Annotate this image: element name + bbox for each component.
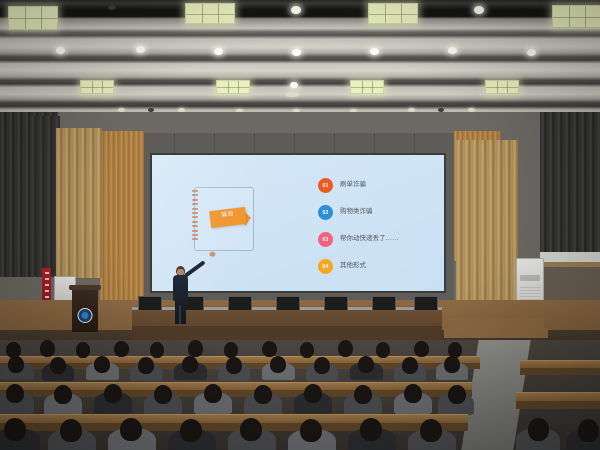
ceiling-panel-light: [185, 3, 235, 24]
ceiling-panel-light: [8, 6, 58, 30]
audience-head: [240, 418, 262, 441]
audience-head: [444, 356, 460, 373]
audience-head: [414, 341, 429, 357]
table-monitor: [228, 296, 252, 310]
audience-head: [138, 357, 154, 374]
projection-screen: 骗局 01 刷单诈骗 02 购物类诈骗 03 帮你动快递丢了…… 04: [150, 153, 446, 293]
audience-head: [448, 385, 466, 404]
stage-step: [448, 318, 544, 328]
audience-head: [404, 384, 422, 403]
ceiling: [0, 0, 600, 118]
ceiling-downlight: [291, 6, 301, 14]
desk-row-front: [520, 368, 600, 375]
ceiling-downlight: [370, 48, 379, 55]
audience-head: [358, 356, 374, 373]
ceiling-downlight: [527, 49, 536, 56]
audience-head: [60, 419, 82, 442]
audience-head: [182, 356, 198, 373]
table-monitor: [276, 296, 300, 310]
audience-head: [120, 418, 142, 441]
ceiling-panel-light: [368, 3, 418, 24]
audience-head: [204, 384, 222, 403]
audience-head: [338, 340, 353, 357]
ceiling-panel-light: [350, 80, 384, 94]
wood-wall-panel-left: [100, 131, 144, 303]
speaker-presenter: [172, 266, 190, 324]
stage-step: [444, 328, 548, 338]
audience-head: [254, 385, 272, 404]
audience-head: [270, 356, 286, 373]
ceiling-downlight: [214, 48, 223, 55]
audience-head: [360, 418, 382, 441]
audience-head: [304, 384, 322, 403]
audience-head: [180, 419, 202, 442]
curtain-tan-left: [56, 128, 102, 278]
audience-head: [94, 356, 110, 373]
audience-head: [314, 357, 330, 374]
right-wall-trim: [540, 262, 600, 267]
table-monitor: [372, 296, 396, 310]
ceiling-downlight: [285, 92, 299, 97]
podium: [72, 288, 98, 332]
audience-head: [224, 342, 238, 358]
curtain-tan-right: [456, 140, 518, 308]
audience-head: [8, 356, 24, 373]
audience-head: [420, 419, 442, 442]
table-monitor: [138, 296, 162, 310]
audience-head: [54, 385, 72, 404]
audience-head: [6, 384, 24, 403]
speaker-hand: [209, 252, 215, 257]
ceiling-panel-light: [552, 5, 600, 28]
audience-head: [300, 342, 314, 358]
ceiling-panel-light: [216, 80, 250, 94]
audience-seating: [0, 340, 600, 450]
ceiling-downlight: [56, 47, 65, 54]
podium-emblem-icon: [78, 308, 93, 323]
ceiling-downlight: [474, 6, 484, 14]
speaker-torso: [173, 275, 188, 301]
audience-head: [114, 341, 129, 357]
ceiling-panel-light: [485, 80, 519, 94]
curtain-dark-right: [540, 112, 600, 262]
ceiling-downlight: [136, 46, 145, 53]
audience-head: [76, 342, 90, 358]
table-monitor: [324, 296, 348, 310]
audience-head: [40, 340, 55, 357]
audience-head: [578, 419, 599, 442]
speaker-legs: [175, 299, 186, 324]
ceiling-panel-light: [80, 80, 114, 94]
audience-head: [376, 342, 390, 358]
audience-head: [402, 357, 418, 374]
audience-head: [528, 418, 549, 441]
audience-head: [226, 357, 242, 374]
audience-head: [154, 385, 172, 404]
audience-head: [50, 357, 66, 374]
desk-row-front: [516, 401, 600, 409]
audience-head: [354, 385, 372, 404]
audience-head: [188, 340, 203, 357]
audience-head: [104, 384, 122, 403]
auditorium-photo: 骗局 01 刷单诈骗 02 购物类诈骗 03 帮你动快递丢了…… 04: [0, 0, 600, 450]
ceiling-downlight: [292, 49, 301, 56]
table-monitor: [414, 296, 438, 310]
audience-head: [262, 341, 277, 357]
audience-head: [300, 419, 322, 442]
ceiling-speaker: [108, 5, 116, 10]
ceiling-downlight: [290, 82, 298, 88]
podium-top: [69, 285, 101, 290]
ceiling-downlight: [448, 47, 457, 54]
audience-head: [150, 342, 164, 358]
audience-head: [4, 418, 26, 441]
